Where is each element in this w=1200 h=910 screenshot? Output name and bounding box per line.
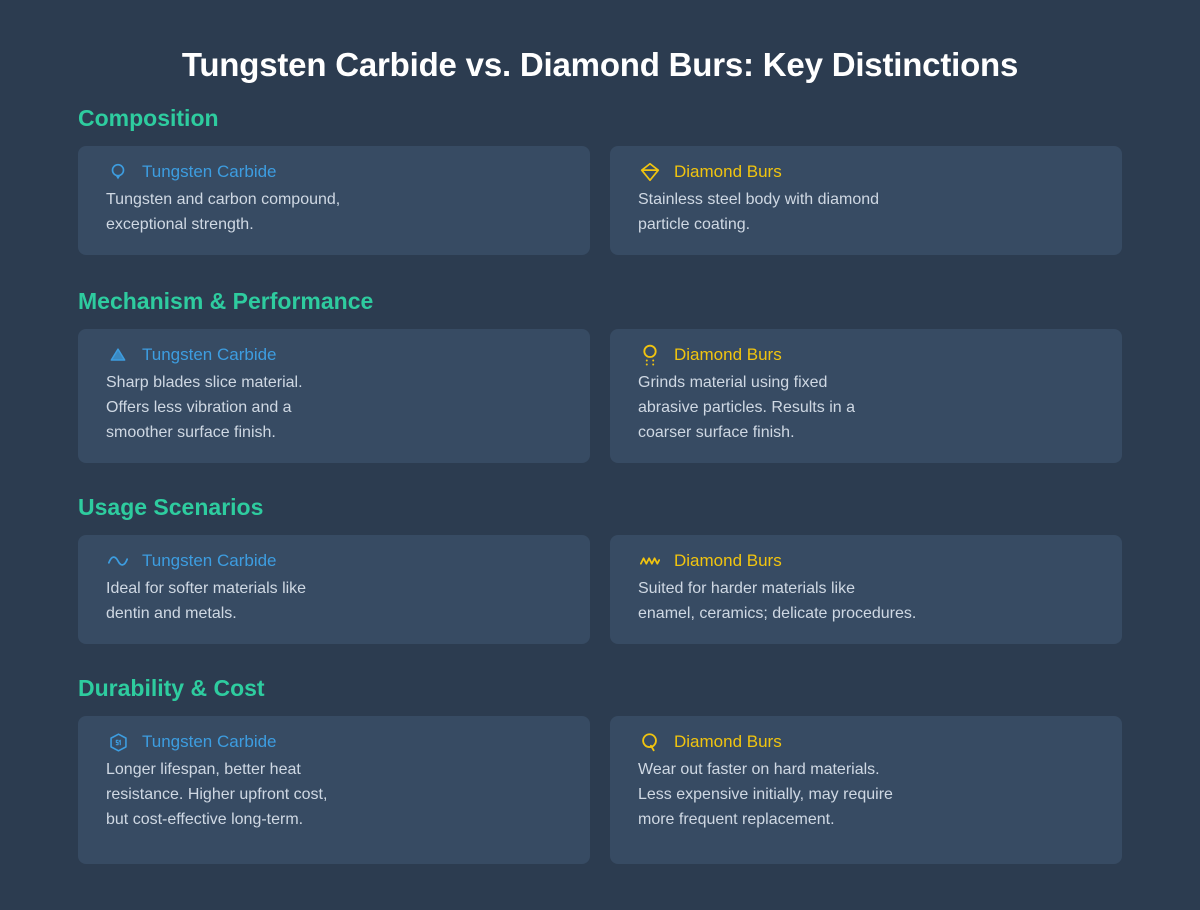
section-durability-cost: Durability & Cost Tungsten Carbide [78, 674, 1122, 864]
magnifier-q-icon [638, 730, 662, 754]
card-header: Tungsten Carbide [106, 730, 572, 754]
card-header: Diamond Burs [638, 730, 1104, 754]
zigzag-wave-icon [638, 549, 662, 573]
abrasive-particles-icon [638, 343, 662, 367]
card-diamond-durability[interactable]: Diamond Burs Wear out faster on hard mat… [610, 716, 1122, 864]
gem-icon [638, 160, 662, 184]
card-description: Tungsten and carbon compound, exceptiona… [106, 187, 572, 237]
card-diamond-usage[interactable]: Diamond Burs Suited for harder materials… [610, 535, 1122, 644]
card-tungsten-composition[interactable]: Tungsten Carbide Tungsten and carbon com… [78, 146, 590, 255]
card-header: Tungsten Carbide [106, 160, 572, 184]
card-label: Tungsten Carbide [142, 550, 277, 572]
card-label: Tungsten Carbide [142, 731, 277, 753]
cards-row: Tungsten Carbide Sharp blades slice mate… [78, 329, 1122, 463]
cards-row: Tungsten Carbide Longer lifespan, better… [78, 716, 1122, 864]
hexagon-shield-icon [106, 730, 130, 754]
card-diamond-mechanism[interactable]: Diamond Burs Grinds material using fixed… [610, 329, 1122, 463]
infographic-page: Tungsten Carbide vs. Diamond Burs: Key D… [0, 0, 1200, 910]
section-mechanism-performance: Mechanism & Performance Tungsten Carbide… [78, 287, 1122, 463]
section-header: Durability & Cost [78, 674, 1122, 702]
card-header: Tungsten Carbide [106, 343, 572, 367]
blade-triangle-icon [106, 343, 130, 367]
sections-container: Composition Tungsten Carbide Tungsten an… [0, 104, 1200, 864]
card-description: Wear out faster on hard materials. Less … [638, 757, 1104, 832]
section-header: Composition [78, 104, 1122, 132]
card-label: Diamond Burs [674, 731, 782, 753]
page-title: Tungsten Carbide vs. Diamond Burs: Key D… [0, 0, 1200, 86]
smooth-wave-icon [106, 549, 130, 573]
cards-row: Tungsten Carbide Tungsten and carbon com… [78, 146, 1122, 255]
card-description: Sharp blades slice material. Offers less… [106, 370, 572, 445]
card-diamond-composition[interactable]: Diamond Burs Stainless steel body with d… [610, 146, 1122, 255]
card-tungsten-usage[interactable]: Tungsten Carbide Ideal for softer materi… [78, 535, 590, 644]
card-description: Grinds material using fixed abrasive par… [638, 370, 1104, 445]
card-header: Diamond Burs [638, 160, 1104, 184]
section-usage-scenarios: Usage Scenarios Tungsten Carbide Ideal f… [78, 493, 1122, 644]
card-tungsten-mechanism[interactable]: Tungsten Carbide Sharp blades slice mate… [78, 329, 590, 463]
card-description: Stainless steel body with diamond partic… [638, 187, 1104, 237]
section-composition: Composition Tungsten Carbide Tungsten an… [78, 104, 1122, 255]
card-description: Longer lifespan, better heat resistance.… [106, 757, 572, 832]
card-header: Diamond Burs [638, 549, 1104, 573]
section-header: Mechanism & Performance [78, 287, 1122, 315]
card-label: Tungsten Carbide [142, 344, 277, 366]
lightbulb-icon [106, 160, 130, 184]
card-label: Diamond Burs [674, 550, 782, 572]
cards-row: Tungsten Carbide Ideal for softer materi… [78, 535, 1122, 644]
section-header: Usage Scenarios [78, 493, 1122, 521]
card-label: Tungsten Carbide [142, 161, 277, 183]
card-description: Ideal for softer materials like dentin a… [106, 576, 572, 626]
card-label: Diamond Burs [674, 344, 782, 366]
card-tungsten-durability[interactable]: Tungsten Carbide Longer lifespan, better… [78, 716, 590, 864]
card-description: Suited for harder materials like enamel,… [638, 576, 1104, 626]
card-header: Tungsten Carbide [106, 549, 572, 573]
card-header: Diamond Burs [638, 343, 1104, 367]
card-label: Diamond Burs [674, 161, 782, 183]
